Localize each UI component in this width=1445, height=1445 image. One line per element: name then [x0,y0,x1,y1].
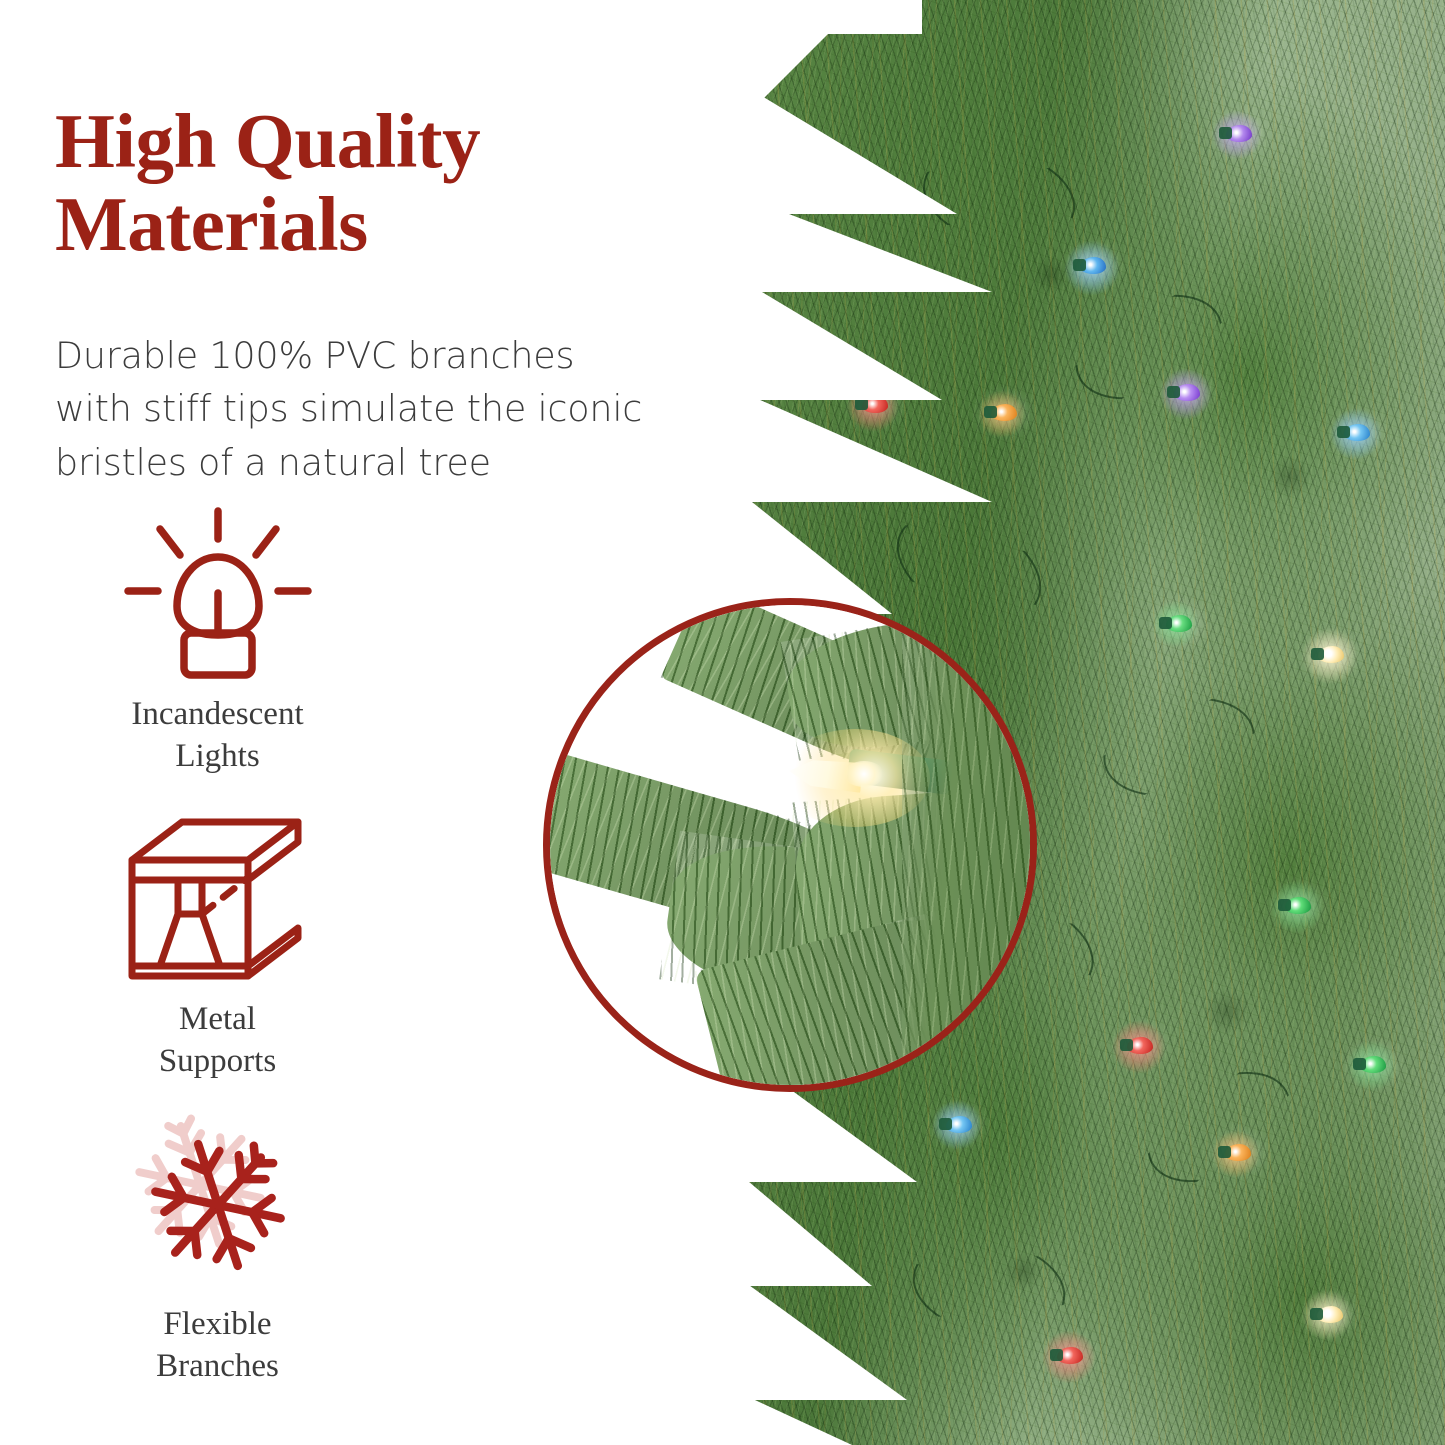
subcopy-line-1: Durable 100% PVC branches [55,334,574,377]
feature-caption-line-2: Supports [55,1040,380,1082]
headline-line-2: Materials [55,181,368,267]
bulb-warm-white [1317,1306,1343,1323]
bulb-warm-white [1318,646,1344,663]
feature-caption-line-2: Branches [55,1345,380,1387]
bulb-green [1360,1056,1386,1073]
feature-item-flexible-branches: Flexible Branches [55,1115,475,1420]
feature-caption: Incandescent Lights [55,693,380,777]
subcopy-line-3: bristles of a natural tree [55,441,491,484]
snowflake-icon [113,1115,323,1290]
bulb-green [1285,897,1311,914]
feature-list: Incandescent Lights Metal [55,505,475,1420]
bulb-green [1166,615,1192,632]
bulb-violet [1174,384,1200,401]
light-bulb-icon [113,505,323,680]
feature-caption-line-1: Metal [55,998,380,1040]
feature-caption-line-2: Lights [55,735,380,777]
bulb-filament-flare [844,761,884,787]
feature-item-incandescent-lights: Incandescent Lights [55,505,475,810]
callout-edge-foliage [902,603,1032,1087]
feature-caption: Flexible Branches [55,1303,380,1387]
feature-item-metal-supports: Metal Supports [55,810,475,1115]
callout-inner-photo [548,603,1032,1087]
feature-caption-line-1: Incandescent [55,693,380,735]
bulb-blue [1080,257,1106,274]
bulb-cyan [1344,424,1370,441]
feature-caption: Metal Supports [55,998,380,1082]
page-title: High Quality Materials [55,100,695,266]
bulb-orange [1225,1144,1251,1161]
magnified-branch-callout [543,598,1037,1092]
bulb-red [1127,1037,1153,1054]
i-beam-icon [113,810,323,985]
bulb-purple [1226,125,1252,142]
subcopy-line-2: with stiff tips simulate the iconic [55,387,642,430]
subheading-description: Durable 100% PVC branches with stiff tip… [55,329,785,490]
headline-line-1: High Quality [55,98,480,184]
feature-caption-line-1: Flexible [55,1303,380,1345]
